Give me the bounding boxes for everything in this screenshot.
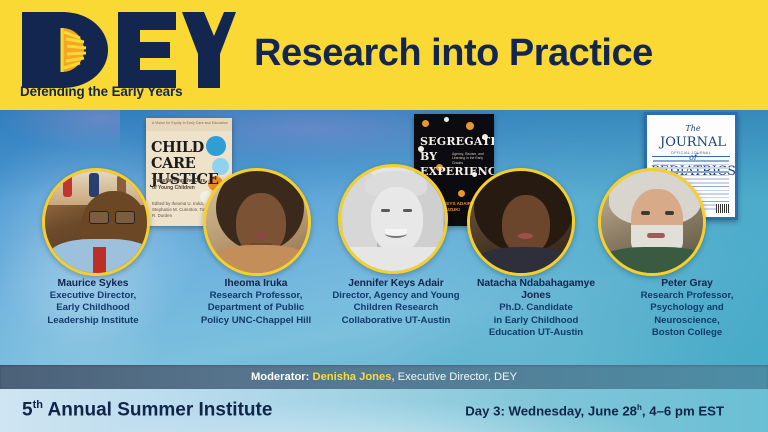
event-title-rest: Annual Summer Institute [43, 400, 272, 421]
speaker-role-line: Education UT-Austin [468, 327, 604, 339]
event-title: 5th Annual Summer Institute [22, 399, 272, 421]
speaker-role-line: Boston College [608, 327, 766, 339]
barcode [716, 204, 730, 213]
avatar-iheoma-iruka [203, 168, 311, 276]
speaker-role-line: Collaborative UT-Austin [328, 315, 464, 327]
speaker-role-line: Neuroscience, [608, 315, 766, 327]
speaker-name: Iheoma Iruka [188, 278, 324, 290]
cover-dot [444, 117, 449, 122]
footer-bar: 5th Annual Summer Institute Day 3: Wedne… [0, 389, 768, 432]
background-violet-haze-left [0, 104, 120, 150]
session-time: , 4–6 pm EST [642, 403, 724, 418]
dey-logo: Defending the Early Years [0, 0, 250, 110]
moderator-text: Moderator: Denisha Jones, Executive Dire… [251, 371, 517, 383]
speaker-role-line: Leadership Institute [2, 315, 184, 327]
speaker-role-line: in Early Childhood [468, 315, 604, 327]
speaker-caption-natacha-ndabahagamye-jones: Natacha Ndabahagamye Jones Ph.D. Candida… [466, 278, 606, 339]
speaker-role-line: Children Research [328, 302, 464, 314]
speaker-role-line: Early Childhood [2, 302, 184, 314]
cover-title-journal: JOURNAL [660, 135, 726, 150]
cover-dot [466, 122, 474, 130]
avatar-natacha-ndabahagamye-jones [467, 168, 575, 276]
speaker-name: Maurice Sykes [2, 278, 184, 290]
speaker-role-line: Research Professor, [188, 290, 324, 302]
speaker-role-line: Department of Public [188, 302, 324, 314]
speaker-role-line: Executive Director, [2, 290, 184, 302]
speaker-role-line: Research Professor, [608, 290, 766, 302]
avatar-jennifer-keys-adair [338, 164, 448, 274]
cover-dot [458, 190, 465, 197]
speaker-name: Peter Gray [608, 278, 766, 290]
speaker-caption-maurice-sykes: Maurice Sykes Executive Director, Early … [0, 278, 186, 327]
avatar-maurice-sykes [42, 168, 150, 276]
session-date: Day 3: Wednesday, June 28 [465, 403, 637, 418]
speaker-role-line: Director, Agency and Young [328, 290, 464, 302]
cover-dot [422, 120, 429, 127]
speaker-caption-jennifer-keys-adair: Jennifer Keys Adair Director, Agency and… [326, 278, 466, 327]
speaker-role-line: Psychology and [608, 302, 766, 314]
speaker-role-line: Ph.D. Candidate [468, 302, 604, 314]
dey-logo-tagline: Defending the Early Years [20, 84, 182, 99]
event-ordinal: th [33, 399, 43, 411]
event-number: 5 [22, 400, 33, 421]
speaker-caption-iheoma-iruka: Iheoma Iruka Research Professor, Departm… [186, 278, 326, 327]
avatar-peter-gray [598, 168, 706, 276]
moderator-label: Moderator: [251, 371, 309, 383]
session-details: Day 3: Wednesday, June 28h, 4–6 pm EST [465, 403, 724, 418]
speaker-name-line: Jones [468, 290, 604, 302]
cover-rule [652, 156, 730, 157]
cover-subtitle: Agency, Racism, and Learning in the Earl… [452, 152, 490, 165]
speaker-name: Jennifer Keys Adair [328, 278, 464, 290]
moderator-name: Denisha Jones, [312, 371, 394, 383]
cover-tagline: A Vision for Equity in Early Care and Ed… [152, 121, 228, 125]
moderator-role: Executive Director, DEY [398, 371, 517, 383]
moderator-bar: Moderator: Denisha Jones, Executive Dire… [0, 365, 768, 389]
poster-canvas: A Vision for Equity in Early Care and Ed… [0, 0, 768, 432]
speaker-caption-peter-gray: Peter Gray Research Professor, Psycholog… [606, 278, 768, 339]
header-banner: Defending the Early Years Research into … [0, 0, 768, 110]
page-title: Research into Practice [254, 32, 653, 79]
speaker-caption-row: Maurice Sykes Executive Director, Early … [0, 278, 768, 362]
speaker-role-line: Policy UNC-Chappel Hill [188, 315, 324, 327]
cover-subtitle: OFFICIAL JOURNAL [647, 151, 735, 155]
cover-subtitle: Transforming the Care of Young Children [152, 178, 208, 191]
cover-title-the: The [685, 124, 700, 133]
speaker-name-line: Natacha Ndabahagamye [468, 278, 604, 290]
